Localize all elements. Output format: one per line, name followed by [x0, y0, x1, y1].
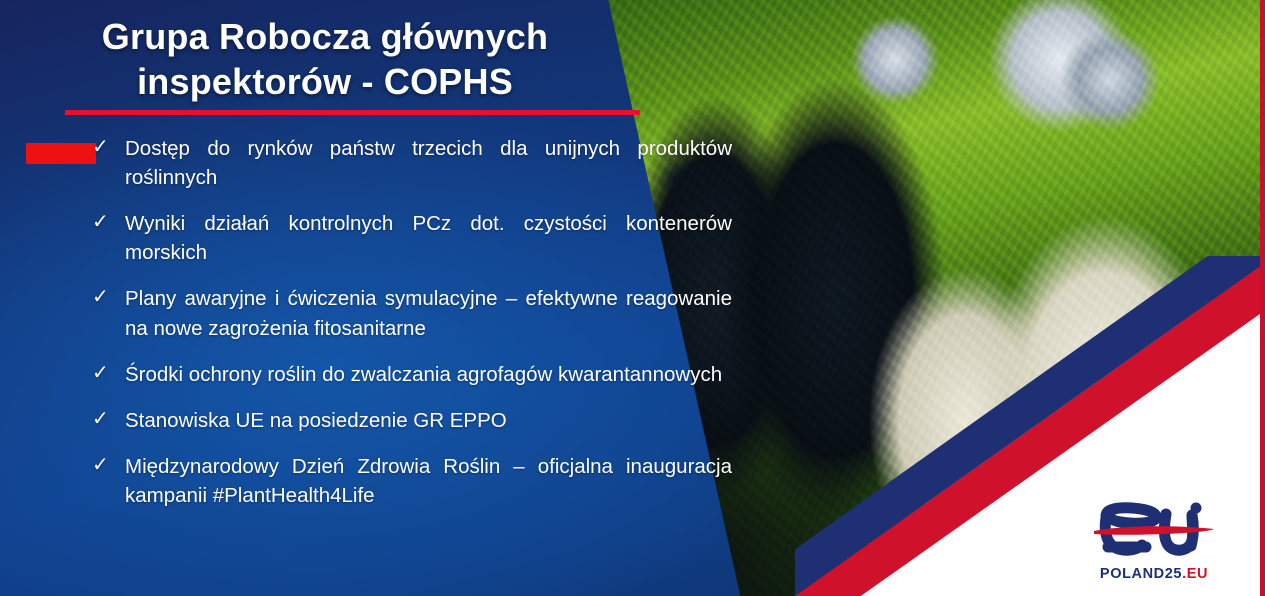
poland-eu-presidency-logo: POLAND25.EU	[1071, 500, 1237, 582]
list-item-label: Stanowiska UE na posiedzenie GR EPPO	[125, 406, 732, 435]
logo-wordmark-main: POLAND25	[1100, 566, 1182, 582]
check-icon: ✓	[92, 133, 109, 161]
list-item: ✓ Plany awaryjne i ćwiczenia symulacyjne…	[92, 284, 732, 342]
list-item: ✓ Dostęp do rynków państw trzecich dla u…	[92, 134, 732, 192]
list-item-label: Wyniki działań kontrolnych PCz dot. czys…	[125, 209, 732, 267]
presentation-slide: POLAND25.EU Grupa Robocza głównych inspe…	[0, 0, 1265, 596]
list-item: ✓ Międzynarodowy Dzień Zdrowia Roślin – …	[92, 452, 732, 510]
check-icon: ✓	[92, 283, 109, 311]
eu-brushstroke-icon	[1084, 500, 1224, 562]
list-item-label: Dostęp do rynków państw trzecich dla uni…	[125, 134, 732, 192]
page-title: Grupa Robocza głównych inspektorów - COP…	[0, 14, 650, 104]
list-item-label: Środki ochrony roślin do zwalczania agro…	[125, 360, 732, 389]
check-icon: ✓	[92, 451, 109, 479]
list-item: ✓ Środki ochrony roślin do zwalczania ag…	[92, 360, 732, 389]
logo-wordmark-domain: .EU	[1182, 566, 1208, 582]
title-underline	[65, 110, 640, 115]
list-item: ✓ Stanowiska UE na posiedzenie GR EPPO	[92, 406, 732, 435]
bullet-list: ✓ Dostęp do rynków państw trzecich dla u…	[92, 134, 732, 510]
page-title-line1: Grupa Robocza głównych	[40, 14, 610, 59]
list-item-label: Międzynarodowy Dzień Zdrowia Roślin – of…	[125, 452, 732, 510]
logo-wordmark: POLAND25.EU	[1071, 566, 1237, 582]
right-edge-red-strip	[1260, 0, 1265, 596]
list-item-label: Plany awaryjne i ćwiczenia symulacyjne –…	[125, 284, 732, 342]
page-title-line2: inspektorów - COPHS	[40, 59, 610, 104]
check-icon: ✓	[92, 208, 109, 236]
check-icon: ✓	[92, 359, 109, 387]
list-item: ✓ Wyniki działań kontrolnych PCz dot. cz…	[92, 209, 732, 267]
check-icon: ✓	[92, 405, 109, 433]
red-highlight-marker	[26, 143, 96, 164]
